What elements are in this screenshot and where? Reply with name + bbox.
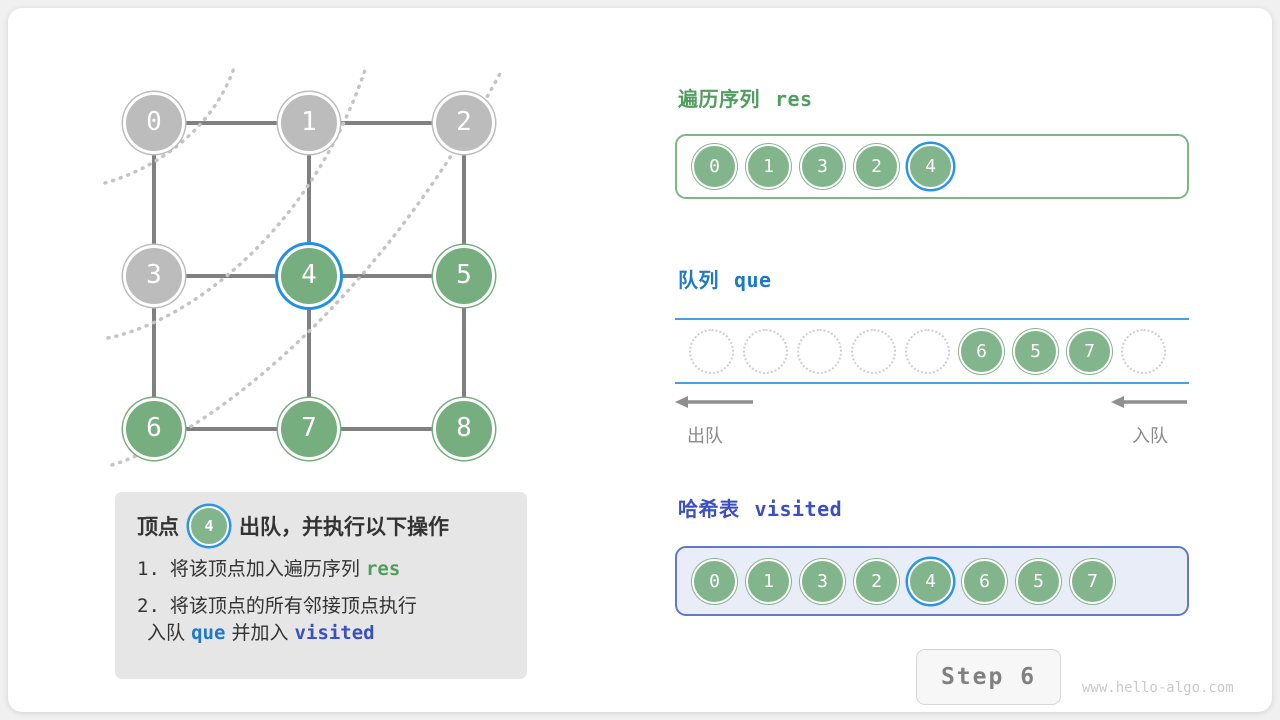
res-cell-highlighted[interactable]: 4 — [908, 144, 953, 189]
caption-code-res: res — [366, 558, 400, 580]
res-title-cn: 遍历序列 — [678, 87, 760, 111]
graph-node-label: 6 — [146, 415, 162, 441]
caption-line-text: 将该顶点加入遍历序列 res — [170, 557, 400, 583]
graph-node-8[interactable]: 8 — [433, 398, 495, 460]
res-cell[interactable]: 1 — [746, 144, 791, 189]
que-slot-empty[interactable] — [905, 329, 950, 374]
graph-node-1[interactable]: 1 — [278, 92, 340, 154]
dequeue-label: 出队 — [687, 422, 723, 448]
graph-node-label: 8 — [456, 415, 472, 441]
figure-card: 0 1 2 3 4 5 6 7 8 遍历序列 res 0 1 3 2 4 队列 … — [8, 8, 1272, 712]
caption-head-post: 出队，并执行以下操作 — [239, 511, 449, 541]
caption-vertex-badge: 4 — [189, 506, 229, 546]
visited-cell[interactable]: 3 — [800, 559, 845, 604]
que-slot-empty[interactable] — [689, 329, 734, 374]
step-badge: Step 6 — [916, 649, 1061, 705]
graph-node-4[interactable]: 4 — [278, 245, 340, 307]
graph-panel: 0 1 2 3 4 5 6 7 8 — [8, 8, 628, 508]
visited-cell[interactable]: 1 — [746, 559, 791, 604]
que-slot-filled[interactable]: 7 — [1067, 329, 1112, 374]
graph-node-label: 7 — [301, 415, 317, 441]
dequeue-arrow-icon — [675, 394, 755, 410]
visited-cell[interactable]: 0 — [692, 559, 737, 604]
visited-cell[interactable]: 7 — [1070, 559, 1115, 604]
caption-line-pre: 入队 — [147, 622, 185, 644]
visited-title-cn: 哈希表 — [678, 497, 740, 521]
graph-node-label: 3 — [146, 262, 162, 288]
caption-line-3: 入队 que 并加入 visited — [137, 621, 509, 647]
caption-head-pre: 顶点 — [137, 511, 179, 541]
caption-line-number: 1. — [137, 557, 160, 583]
enqueue-arrow-icon — [1111, 394, 1189, 410]
visited-cell-highlighted[interactable]: 4 — [908, 559, 953, 604]
caption-line-1: 1. 将该顶点加入遍历序列 res — [137, 557, 509, 583]
enqueue-label: 入队 — [1132, 422, 1168, 448]
que-title-code: que — [734, 268, 772, 292]
res-container: 0 1 3 2 4 — [675, 134, 1189, 199]
caption-line-text: 将该顶点的所有邻接顶点执行 — [170, 594, 417, 620]
visited-title-code: visited — [754, 497, 842, 521]
caption-code-que: que — [191, 622, 225, 644]
que-slot-empty[interactable] — [1121, 329, 1166, 374]
graph-node-label: 4 — [301, 262, 317, 288]
que-slot-empty[interactable] — [797, 329, 842, 374]
que-slot-empty[interactable] — [743, 329, 788, 374]
que-container: 6 5 7 — [675, 318, 1189, 384]
que-slot-filled[interactable]: 6 — [959, 329, 1004, 374]
graph-node-5[interactable]: 5 — [433, 245, 495, 307]
res-title-code: res — [775, 87, 813, 111]
caption-line-text: 入队 que 并加入 visited — [147, 621, 375, 647]
res-title: 遍历序列 res — [678, 83, 813, 112]
visited-title: 哈希表 visited — [678, 493, 842, 522]
visited-container: 0 1 3 2 4 6 5 7 — [675, 546, 1189, 616]
res-cell[interactable]: 3 — [800, 144, 845, 189]
watermark: www.hello-algo.com — [1082, 680, 1234, 696]
caption-heading: 顶点 4 出队，并执行以下操作 — [137, 506, 509, 546]
visited-cell[interactable]: 2 — [854, 559, 899, 604]
que-slot-empty[interactable] — [851, 329, 896, 374]
graph-node-2[interactable]: 2 — [433, 92, 495, 154]
que-title: 队列 que — [678, 264, 772, 293]
caption-line-2: 2. 将该顶点的所有邻接顶点执行 — [137, 594, 509, 620]
res-cell[interactable]: 2 — [854, 144, 899, 189]
graph-node-3[interactable]: 3 — [123, 245, 185, 307]
graph-node-6[interactable]: 6 — [123, 398, 185, 460]
caption-code-visited: visited — [295, 622, 375, 644]
caption-box: 顶点 4 出队，并执行以下操作 1. 将该顶点加入遍历序列 res 2. 将该顶… — [115, 492, 527, 679]
graph-node-7[interactable]: 7 — [278, 398, 340, 460]
graph-node-label: 5 — [456, 262, 472, 288]
caption-line-mid: 并加入 — [231, 622, 288, 644]
que-title-cn: 队列 — [678, 268, 719, 292]
caption-line-pre: 将该顶点加入遍历序列 — [170, 558, 360, 580]
caption-line-number: 2. — [137, 594, 160, 620]
graph-node-label: 2 — [456, 109, 472, 135]
res-cell[interactable]: 0 — [692, 144, 737, 189]
graph-node-label: 0 — [146, 109, 162, 135]
que-slot-filled[interactable]: 5 — [1013, 329, 1058, 374]
graph-node-0[interactable]: 0 — [123, 92, 185, 154]
visited-cell[interactable]: 5 — [1016, 559, 1061, 604]
visited-cell[interactable]: 6 — [962, 559, 1007, 604]
graph-node-label: 1 — [301, 109, 317, 135]
